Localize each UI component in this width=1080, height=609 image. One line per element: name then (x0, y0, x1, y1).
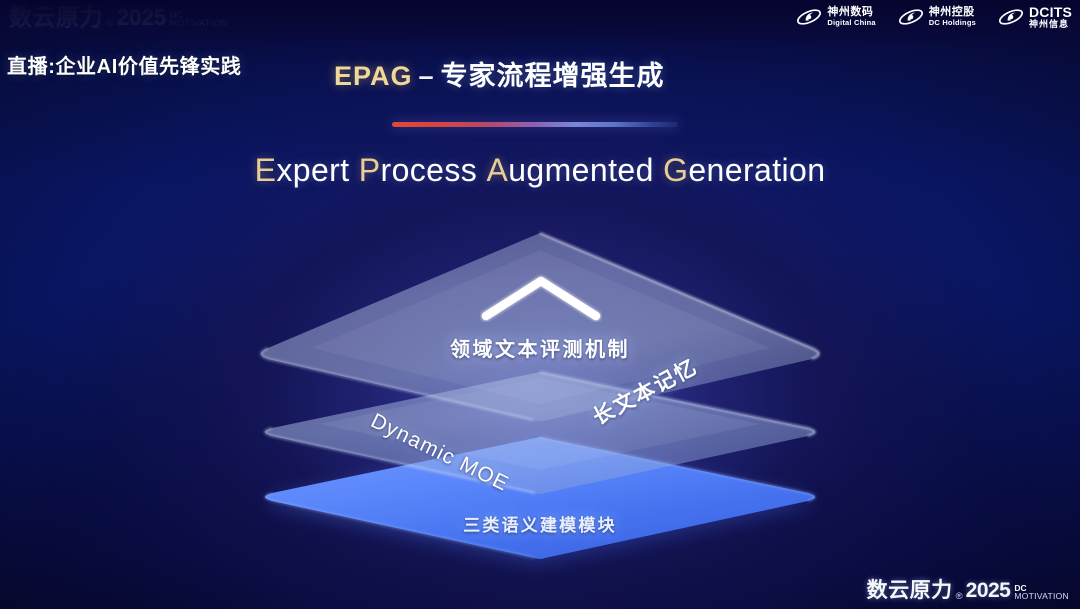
swirl-icon (898, 6, 924, 28)
slide-subtitle: Expert Process Augmented Generation (0, 152, 1080, 189)
swirl-icon (796, 6, 822, 28)
partner-logo-text: DCITS 神州信息 (1029, 5, 1072, 30)
partner-name-en: 神州信息 (1029, 20, 1072, 30)
diagram-label-top: 领域文本评测机制 (0, 333, 1080, 362)
partner-logo-dc-holdings: 神州控股 DC Holdings (898, 6, 976, 28)
diagram-label-bottom: 三类语义建模模块 (0, 511, 1080, 536)
diagram-layer-top (261, 233, 819, 421)
subtitle-w1-rest: xpert (276, 152, 349, 188)
subtitle-w4-cap: G (663, 152, 688, 188)
live-session-title: 直播:企业AI价值先锋实践 (7, 50, 241, 79)
watermark-year: 2025 (966, 580, 1011, 601)
partner-name-en: Digital China (827, 19, 875, 27)
watermark-dc-line2: MOTIVATION (1014, 592, 1069, 600)
subtitle-w2-cap: P (359, 152, 381, 188)
swirl-icon (998, 6, 1024, 28)
subtitle-w3-rest: ugmented (508, 152, 654, 188)
gradient-divider (392, 122, 678, 127)
subtitle-w2-rest: rocess (381, 152, 478, 188)
partner-logo-row: 神州数码 Digital China 神州控股 DC Holdings (796, 5, 1072, 30)
watermark-name-cn: 数云原力 (867, 580, 953, 601)
headline-acronym: EPAG (334, 61, 413, 91)
subtitle-w4-rest: eneration (688, 152, 825, 188)
partner-name-cn: DCITS (1029, 5, 1072, 20)
diagram-layer-bottom (265, 437, 815, 565)
partner-name-en: DC Holdings (929, 19, 976, 27)
headline-separator: – (419, 61, 435, 91)
slide-canvas: 领域文本评测机制 Dynamic MOE 长文本记忆 三类语义建模模块 数云原力… (0, 0, 1080, 609)
subtitle-w1-cap: E (255, 152, 277, 188)
chevron-up-icon (480, 274, 602, 322)
slide-headline: EPAG–专家流程增强生成 (334, 54, 665, 93)
watermark-dc-motivation: DC MOTIVATION (1014, 584, 1069, 601)
subtitle-w3-cap: A (486, 152, 508, 188)
partner-logo-text: 神州数码 Digital China (827, 7, 875, 27)
partner-logo-digital-china: 神州数码 Digital China (796, 6, 875, 28)
diagram-label-middle-left: Dynamic MOE (367, 409, 513, 497)
diagram-layer-middle (265, 372, 815, 494)
headline-chinese: 专家流程增强生成 (441, 61, 665, 91)
diagram-label-middle-right: 长文本记忆 (587, 351, 703, 431)
event-brand-watermark: 数云原力® 2025 DC MOTIVATION (867, 580, 1069, 601)
partner-logo-text: 神州控股 DC Holdings (929, 7, 976, 27)
watermark-registered-mark: ® (956, 592, 963, 601)
partner-logo-dcits: DCITS 神州信息 (998, 5, 1072, 30)
